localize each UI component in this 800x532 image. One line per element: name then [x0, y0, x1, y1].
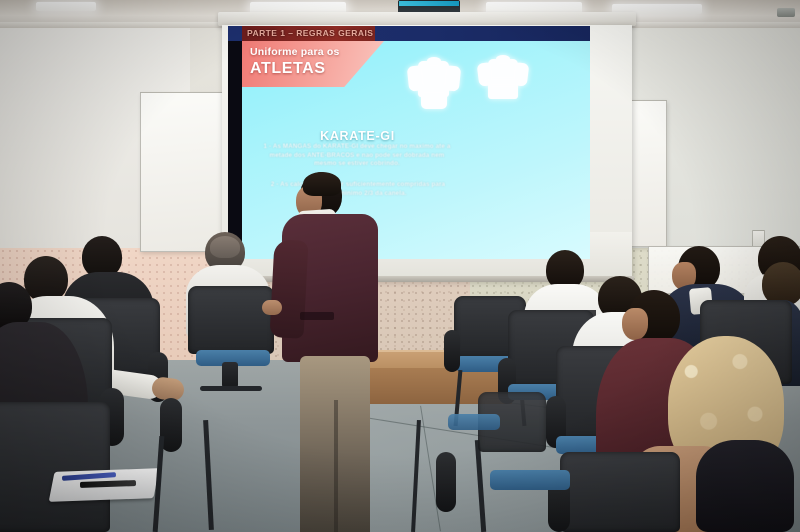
projector-lens-glow: [399, 1, 459, 6]
slide-header-tag-label: PARTE 1 – REGRAS GERAIS: [247, 27, 375, 40]
chair-seat[interactable]: [490, 470, 570, 490]
chair-pedestal: [222, 362, 238, 388]
auditorium-chair[interactable]: [560, 452, 680, 532]
lecture-room-photo: PARTE 1 – REGRAS GERAIS Uniforme para os…: [0, 0, 800, 532]
slide-title-line1: Uniforme para os: [250, 46, 340, 58]
slide-bullet-2: 2 - As calcas devem ser suficientemente …: [268, 181, 448, 198]
karate-gi-back-icon: [478, 55, 528, 109]
projected-slide: PARTE 1 – REGRAS GERAIS Uniforme para os…: [228, 26, 590, 259]
chair-seat[interactable]: [448, 414, 500, 430]
wall-vent: [777, 8, 795, 17]
projection-screen-case: [218, 12, 636, 26]
karate-gi-front-icon: [408, 57, 460, 113]
chair-base: [200, 386, 262, 391]
ceiling-light: [36, 2, 96, 11]
whiteboard-panel-left: [140, 92, 232, 252]
slide-section-heading: KARATE-GI: [270, 129, 445, 143]
slide-title-line2: ATLETAS: [250, 60, 326, 78]
auditorium-chair[interactable]: [188, 286, 274, 354]
slide-bullet-1: 1 - As MANGAS do KARATE-GI deve chegar n…: [262, 143, 452, 169]
auditorium-chair[interactable]: [0, 402, 110, 532]
chair-arm: [444, 330, 460, 372]
chair-arm: [436, 452, 456, 512]
